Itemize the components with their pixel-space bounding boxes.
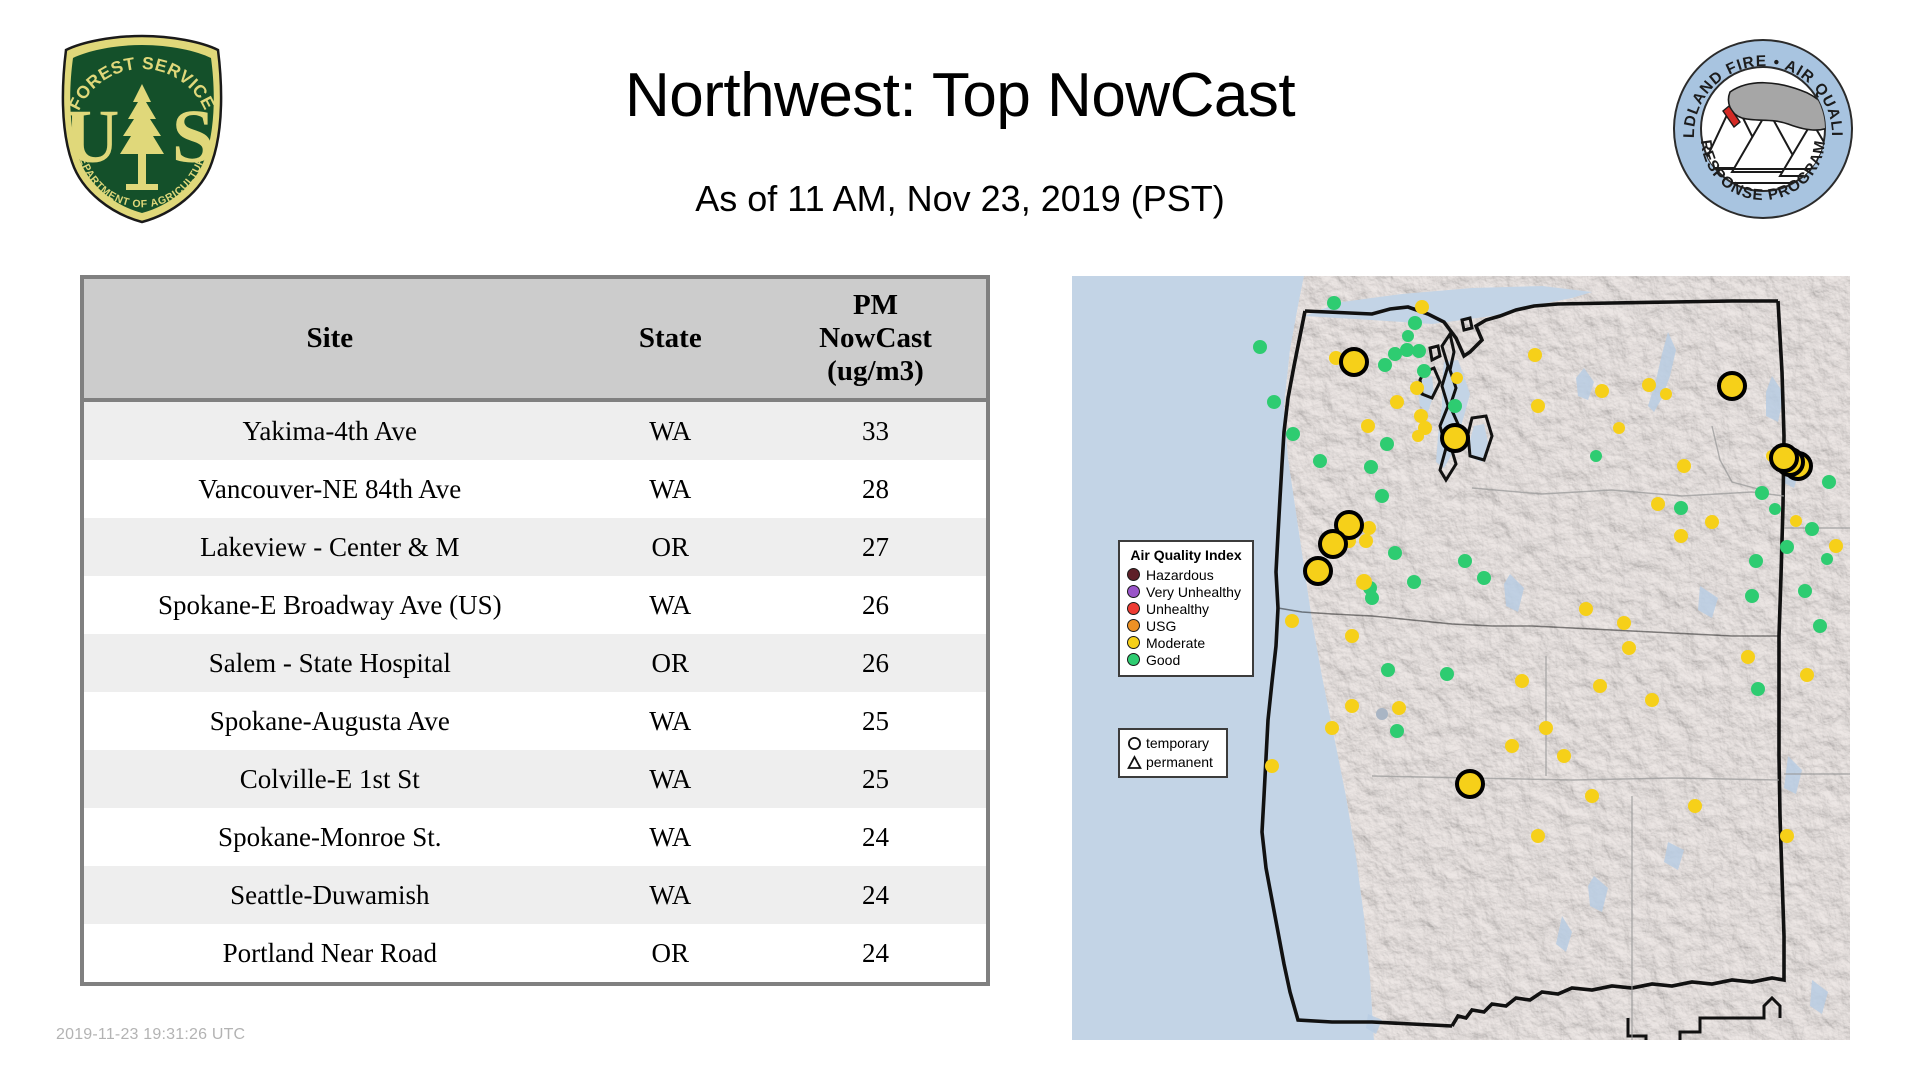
cell-site: Yakima-4th Ave	[84, 400, 576, 460]
monitor-point[interactable]	[1376, 708, 1388, 720]
monitor-point[interactable]	[1821, 553, 1833, 565]
monitor-point[interactable]	[1415, 300, 1429, 314]
monitor-point[interactable]	[1642, 378, 1656, 392]
column-header-state: State	[576, 279, 765, 400]
table-row: Portland Near RoadOR24	[84, 924, 986, 982]
column-header-pm-nowcast: PM NowCast (ug/m3)	[765, 279, 986, 400]
cell-pm: 24	[765, 924, 986, 982]
aqi-legend: Air Quality Index HazardousVery Unhealth…	[1118, 540, 1254, 677]
aqi-legend-item: Unhealthy	[1127, 600, 1245, 617]
aqi-legend-item: Hazardous	[1127, 566, 1245, 583]
cell-site: Spokane-Augusta Ave	[84, 692, 576, 750]
monitor-point[interactable]	[1745, 589, 1759, 603]
monitor-point[interactable]	[1345, 699, 1359, 713]
cell-site: Seattle-Duwamish	[84, 866, 576, 924]
monitor-point[interactable]	[1800, 668, 1814, 682]
aqi-swatch-icon	[1127, 636, 1140, 649]
monitor-point[interactable]	[1595, 384, 1609, 398]
aqi-swatch-icon	[1127, 653, 1140, 666]
monitor-point[interactable]	[1402, 330, 1414, 342]
monitor-point[interactable]	[1451, 372, 1463, 384]
footer-timestamp: 2019-11-23 19:31:26 UTC	[56, 1026, 245, 1044]
monitor-point[interactable]	[1362, 521, 1376, 535]
monitor-point[interactable]	[1408, 316, 1422, 330]
monitor-point[interactable]	[1253, 340, 1267, 354]
table-row: Spokane-E Broadway Ave (US)WA26	[84, 576, 986, 634]
monitor-point[interactable]	[1674, 501, 1688, 515]
aqi-legend-label: Good	[1146, 653, 1180, 667]
monitor-point[interactable]	[1458, 554, 1472, 568]
monitor-point[interactable]	[1325, 721, 1339, 735]
monitor-point[interactable]	[1617, 616, 1631, 630]
table-row: Seattle-DuwamishWA24	[84, 866, 986, 924]
monitor-point[interactable]	[1388, 347, 1402, 361]
monitor-point[interactable]	[1285, 614, 1299, 628]
monitor-point[interactable]	[1356, 574, 1372, 590]
monitor-point[interactable]	[1392, 701, 1406, 715]
highlighted-site-marker[interactable]	[1320, 531, 1346, 557]
triangle-icon	[1126, 755, 1143, 770]
monitor-point[interactable]	[1407, 575, 1421, 589]
table-row: Lakeview - Center & MOR27	[84, 518, 986, 576]
monitor-point[interactable]	[1313, 454, 1327, 468]
monitor-point[interactable]	[1822, 475, 1836, 489]
monitor-point[interactable]	[1414, 409, 1428, 423]
highlighted-site-marker[interactable]	[1771, 445, 1797, 471]
monitor-point[interactable]	[1688, 799, 1702, 813]
monitor-point[interactable]	[1477, 571, 1491, 585]
cell-site: Portland Near Road	[84, 924, 576, 982]
cell-pm: 24	[765, 808, 986, 866]
monitor-point[interactable]	[1528, 348, 1542, 362]
cell-state: OR	[576, 518, 765, 576]
monitor-point[interactable]	[1448, 399, 1462, 413]
site-type-temporary-label: temporary	[1146, 736, 1209, 751]
monitor-point[interactable]	[1660, 388, 1672, 400]
monitor-point[interactable]	[1780, 829, 1794, 843]
site-type-temporary: temporary	[1126, 734, 1220, 753]
monitor-point[interactable]	[1674, 529, 1688, 543]
pm-header-line-1: PM	[765, 289, 986, 322]
monitor-point[interactable]	[1677, 459, 1691, 473]
circle-icon	[1126, 736, 1143, 751]
monitor-point[interactable]	[1375, 489, 1389, 503]
table-row: Spokane-Augusta AveWA25	[84, 692, 986, 750]
cell-state: WA	[576, 866, 765, 924]
monitor-point[interactable]	[1440, 667, 1454, 681]
monitor-point[interactable]	[1769, 503, 1781, 515]
top-nowcast-table: Site State PM NowCast (ug/m3) Yakima-4th…	[80, 275, 990, 986]
table-row: Salem - State HospitalOR26	[84, 634, 986, 692]
monitor-point[interactable]	[1805, 522, 1819, 536]
table-row: Colville-E 1st StWA25	[84, 750, 986, 808]
monitor-point[interactable]	[1265, 759, 1279, 773]
cell-state: WA	[576, 460, 765, 518]
site-type-legend: temporary permanent	[1118, 728, 1228, 778]
column-header-site: Site	[84, 279, 576, 400]
monitor-point[interactable]	[1590, 450, 1602, 462]
aqi-legend-label: Unhealthy	[1146, 602, 1209, 616]
aqi-legend-label: Very Unhealthy	[1146, 585, 1241, 599]
monitor-point[interactable]	[1417, 364, 1431, 378]
cell-state: WA	[576, 576, 765, 634]
monitor-point[interactable]	[1798, 584, 1812, 598]
site-type-permanent-label: permanent	[1146, 755, 1213, 770]
table-row: Yakima-4th AveWA33	[84, 400, 986, 460]
monitor-point[interactable]	[1557, 749, 1571, 763]
monitor-point[interactable]	[1531, 399, 1545, 413]
site-type-permanent: permanent	[1126, 753, 1220, 772]
monitor-point[interactable]	[1613, 422, 1625, 434]
highlighted-site-marker[interactable]	[1341, 349, 1367, 375]
cell-pm: 28	[765, 460, 986, 518]
monitor-point[interactable]	[1390, 395, 1404, 409]
monitor-point[interactable]	[1593, 679, 1607, 693]
monitor-point[interactable]	[1751, 682, 1765, 696]
cell-site: Lakeview - Center & M	[84, 518, 576, 576]
monitor-point[interactable]	[1345, 629, 1359, 643]
monitor-point[interactable]	[1749, 554, 1763, 568]
monitor-point[interactable]	[1539, 721, 1553, 735]
monitor-point[interactable]	[1579, 602, 1593, 616]
monitor-point[interactable]	[1380, 437, 1394, 451]
aqi-legend-label: USG	[1146, 619, 1176, 633]
monitor-point[interactable]	[1378, 358, 1392, 372]
monitor-point[interactable]	[1622, 641, 1636, 655]
pm-header-line-3: (ug/m3)	[765, 355, 986, 388]
table-row: Vancouver-NE 84th AveWA28	[84, 460, 986, 518]
aqi-legend-title: Air Quality Index	[1127, 547, 1245, 563]
cell-pm: 26	[765, 634, 986, 692]
cell-site: Vancouver-NE 84th Ave	[84, 460, 576, 518]
monitor-point[interactable]	[1505, 739, 1519, 753]
monitor-point[interactable]	[1327, 296, 1341, 310]
highlighted-site-marker[interactable]	[1442, 425, 1468, 451]
monitor-point[interactable]	[1400, 343, 1414, 357]
cell-state: WA	[576, 750, 765, 808]
table-row: Spokane-Monroe St.WA24	[84, 808, 986, 866]
highlighted-site-marker[interactable]	[1457, 771, 1483, 797]
monitor-point[interactable]	[1645, 693, 1659, 707]
cell-pm: 27	[765, 518, 986, 576]
page-subtitle: As of 11 AM, Nov 23, 2019 (PST)	[0, 178, 1920, 220]
monitor-point[interactable]	[1515, 674, 1529, 688]
monitor-point[interactable]	[1364, 460, 1378, 474]
cell-state: WA	[576, 808, 765, 866]
monitor-point[interactable]	[1741, 650, 1755, 664]
cell-state: OR	[576, 634, 765, 692]
northwest-air-quality-map[interactable]: Air Quality Index HazardousVery Unhealth…	[1072, 276, 1850, 1040]
monitor-point[interactable]	[1813, 619, 1827, 633]
monitor-point[interactable]	[1755, 486, 1769, 500]
highlighted-site-marker[interactable]	[1719, 373, 1745, 399]
aqi-swatch-icon	[1127, 619, 1140, 632]
monitor-point[interactable]	[1585, 789, 1599, 803]
cell-site: Spokane-E Broadway Ave (US)	[84, 576, 576, 634]
monitor-point[interactable]	[1286, 427, 1300, 441]
monitor-point[interactable]	[1390, 724, 1404, 738]
monitor-point[interactable]	[1531, 829, 1545, 843]
aqi-swatch-icon	[1127, 568, 1140, 581]
aqi-legend-item: Moderate	[1127, 634, 1245, 651]
monitor-point[interactable]	[1361, 419, 1375, 433]
aqi-legend-item: Very Unhealthy	[1127, 583, 1245, 600]
monitor-point[interactable]	[1780, 540, 1794, 554]
page-title: Northwest: Top NowCast	[0, 60, 1920, 131]
cell-site: Colville-E 1st St	[84, 750, 576, 808]
monitor-point[interactable]	[1829, 539, 1843, 553]
cell-state: WA	[576, 400, 765, 460]
monitor-point[interactable]	[1267, 395, 1281, 409]
aqi-legend-item: USG	[1127, 617, 1245, 634]
aqi-swatch-icon	[1127, 602, 1140, 615]
cell-pm: 26	[765, 576, 986, 634]
monitor-point[interactable]	[1365, 591, 1379, 605]
pm-header-line-2: NowCast	[765, 322, 986, 355]
monitor-point[interactable]	[1381, 663, 1395, 677]
cell-pm: 33	[765, 400, 986, 460]
cell-pm: 25	[765, 692, 986, 750]
aqi-legend-item: Good	[1127, 651, 1245, 668]
aqi-legend-label: Hazardous	[1146, 568, 1214, 582]
cell-pm: 25	[765, 750, 986, 808]
table-header-row: Site State PM NowCast (ug/m3)	[84, 279, 986, 400]
cell-pm: 24	[765, 866, 986, 924]
cell-state: OR	[576, 924, 765, 982]
monitor-point[interactable]	[1412, 430, 1424, 442]
monitor-point[interactable]	[1359, 534, 1373, 548]
cell-state: WA	[576, 692, 765, 750]
aqi-swatch-icon	[1127, 585, 1140, 598]
cell-site: Spokane-Monroe St.	[84, 808, 576, 866]
monitor-point[interactable]	[1388, 546, 1402, 560]
aqi-legend-label: Moderate	[1146, 636, 1205, 650]
highlighted-site-marker[interactable]	[1305, 558, 1331, 584]
monitor-point[interactable]	[1790, 515, 1802, 527]
monitor-point[interactable]	[1412, 344, 1426, 358]
monitor-point[interactable]	[1705, 515, 1719, 529]
monitor-point[interactable]	[1651, 497, 1665, 511]
cell-site: Salem - State Hospital	[84, 634, 576, 692]
monitor-point[interactable]	[1410, 381, 1424, 395]
